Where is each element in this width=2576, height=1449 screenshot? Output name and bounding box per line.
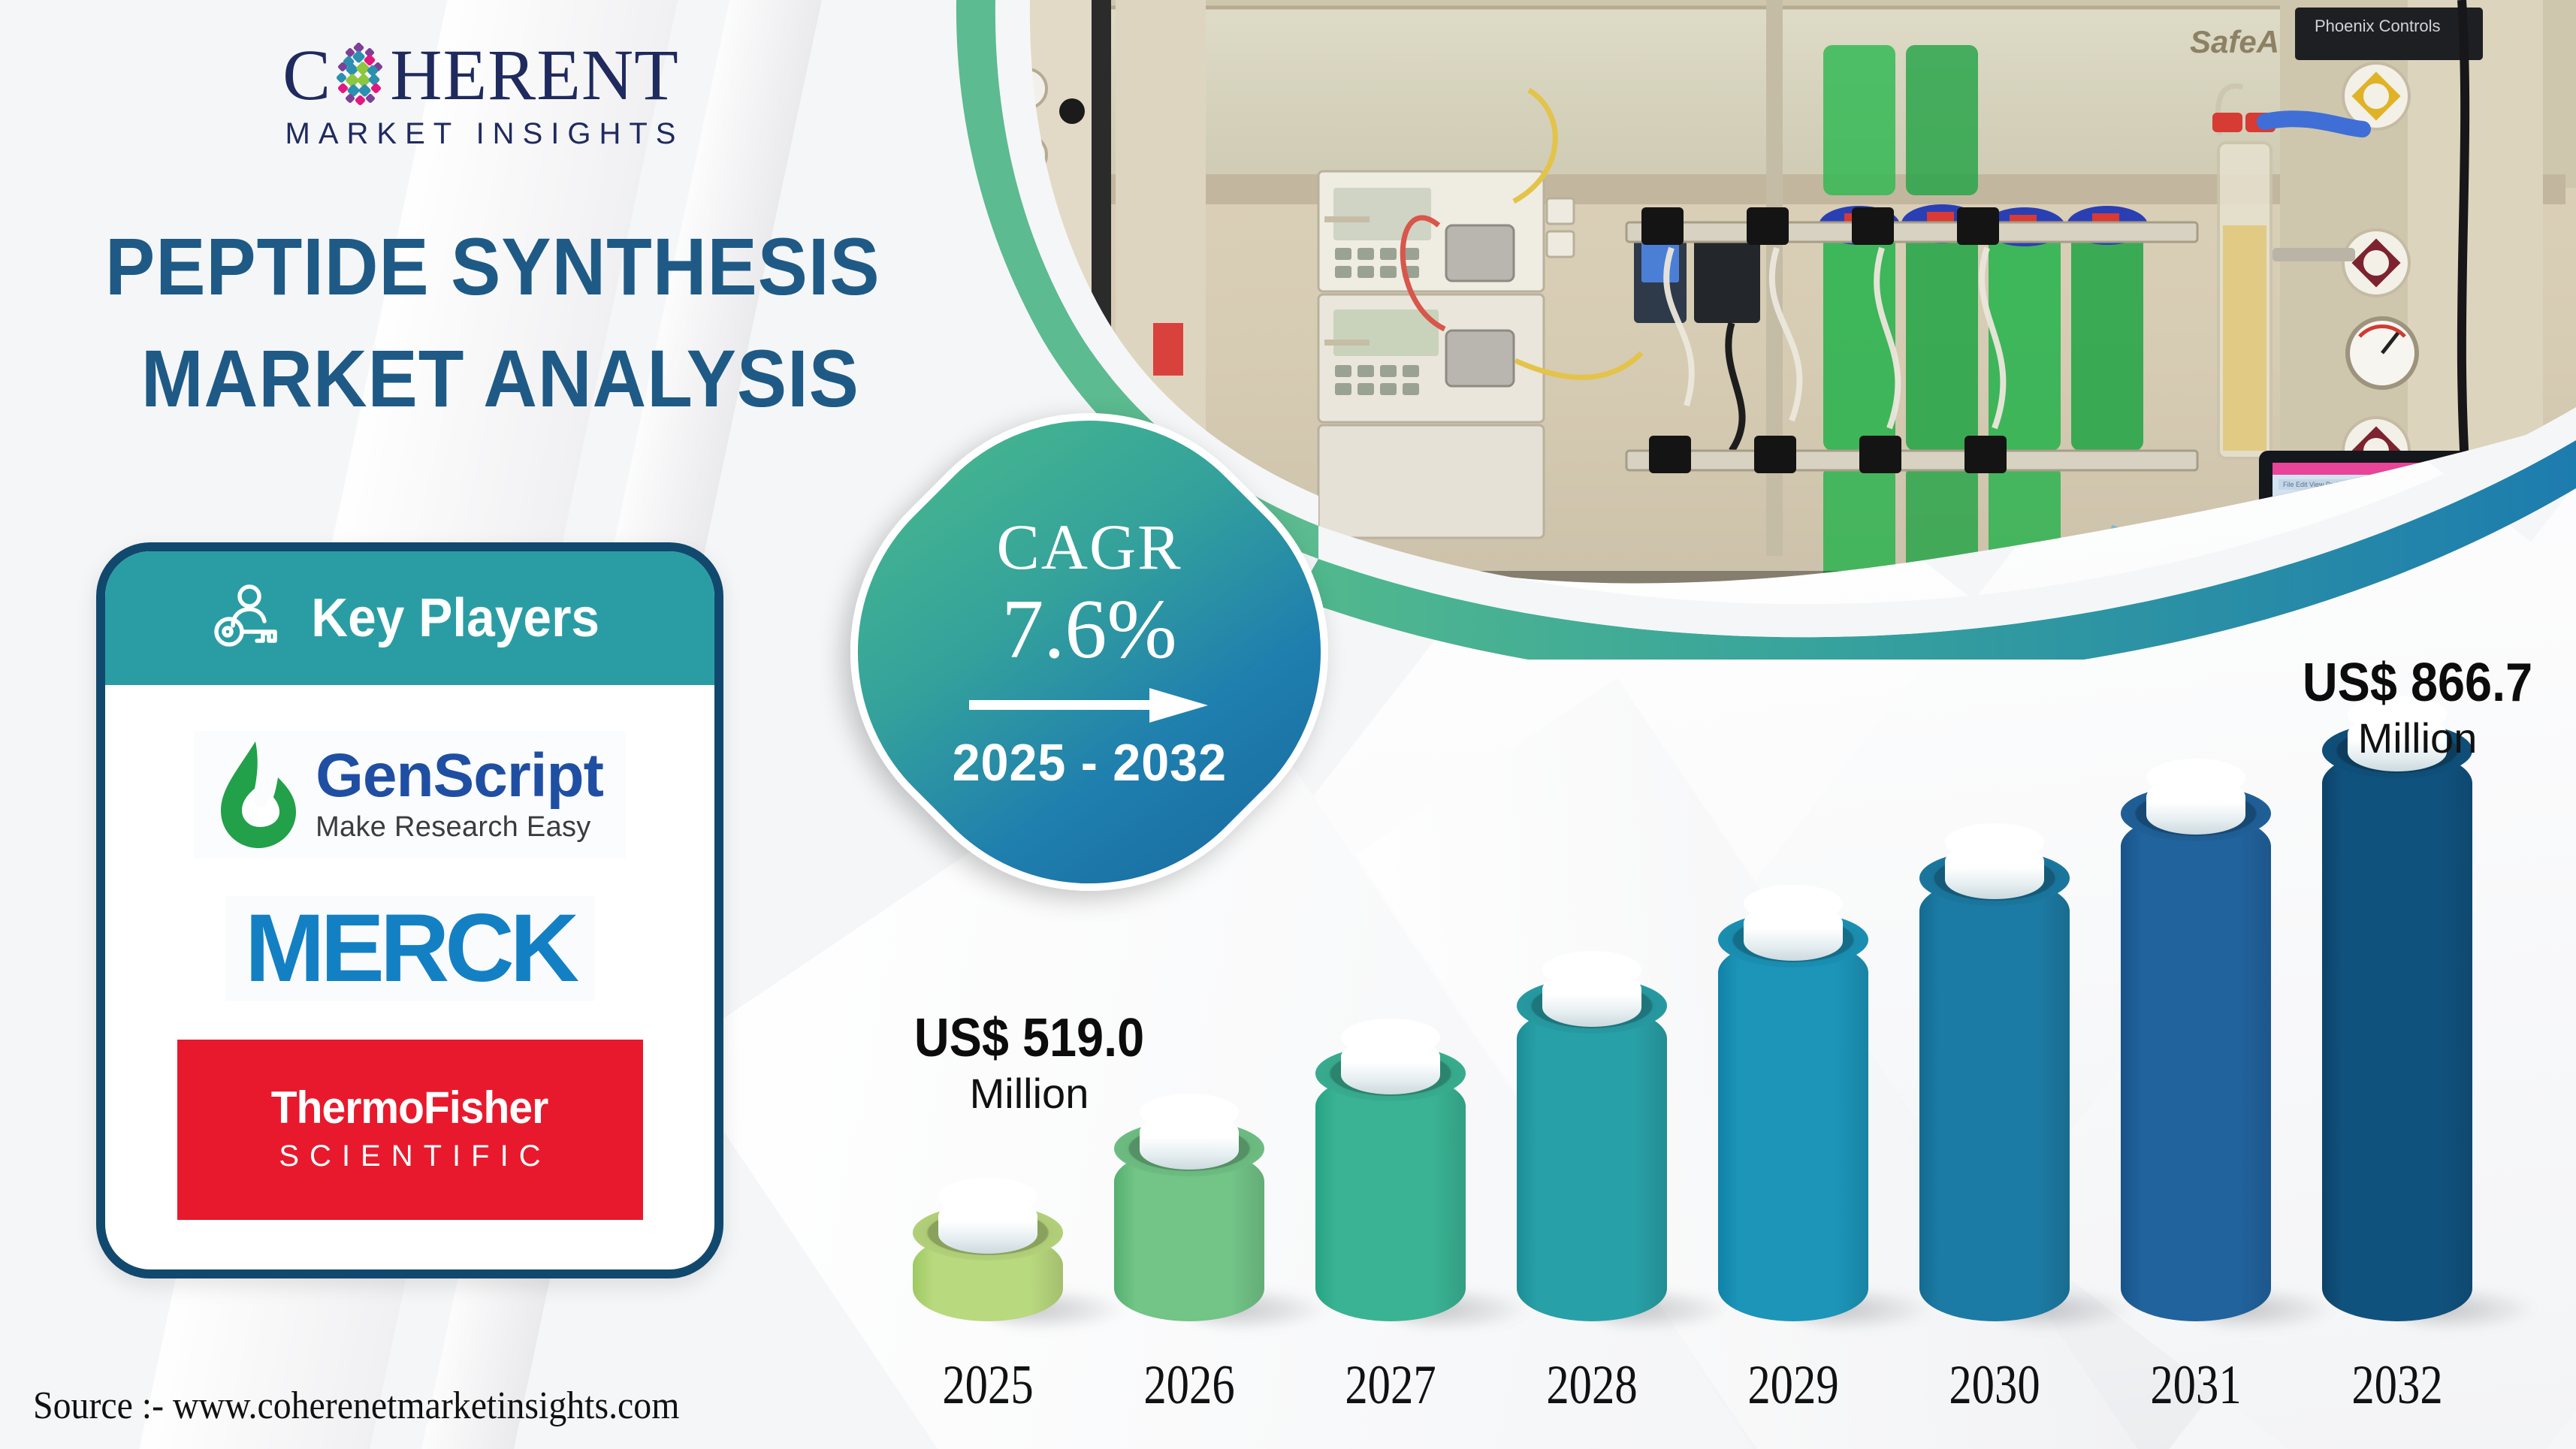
bar-body bbox=[2322, 750, 2472, 1321]
chart-year-label-2031: 2031 bbox=[2134, 1354, 2257, 1417]
cagr-value: 7.6% bbox=[1001, 584, 1176, 676]
bar-cap-top bbox=[1945, 823, 2044, 861]
chart-bar-2027 bbox=[1315, 1073, 1466, 1321]
title-line-2: MARKET ANALYSIS bbox=[105, 322, 755, 434]
bar-body bbox=[1718, 940, 1868, 1321]
bar-cap-top bbox=[1341, 1019, 1440, 1056]
chart-bar-2028 bbox=[1517, 1006, 1667, 1321]
thermofisher-name: ThermoFisher bbox=[271, 1085, 548, 1131]
bar-cap-top bbox=[2146, 759, 2245, 796]
right-arrow-icon bbox=[969, 685, 1209, 729]
logo-merck: MERCK bbox=[225, 896, 594, 1001]
company-logo: C bbox=[240, 39, 721, 151]
bar-body bbox=[1315, 1073, 1466, 1321]
chart-year-label-2032: 2032 bbox=[2336, 1354, 2459, 1417]
logo-tagline: MARKET INSIGHTS bbox=[240, 117, 721, 151]
bar-body bbox=[1919, 878, 2070, 1321]
chart-year-label-2028: 2028 bbox=[1530, 1354, 1653, 1417]
key-players-header: Key Players bbox=[105, 551, 714, 685]
bar-cap-top bbox=[1744, 885, 1843, 922]
chart-bar-2029 bbox=[1718, 940, 1868, 1321]
page-title: PEPTIDE SYNTHESIS MARKET ANALYSIS bbox=[105, 210, 811, 434]
callout-end-value: US$ 866.7 Million bbox=[2267, 655, 2568, 761]
globe-icon bbox=[333, 42, 388, 108]
source-text: Source :- www.coherenetmarketinsights.co… bbox=[33, 1384, 679, 1428]
logo-text-pre: C bbox=[282, 39, 331, 111]
chart-bar-2032 bbox=[2322, 750, 2472, 1321]
cagr-period: 2025 - 2032 bbox=[952, 732, 1226, 792]
thermofisher-subtitle: SCIENTIFIC bbox=[268, 1140, 551, 1173]
key-players-card: Key Players GenScript Make Research Easy bbox=[96, 542, 723, 1278]
chart-bar-2026 bbox=[1114, 1149, 1264, 1321]
bar-body bbox=[2121, 814, 2271, 1321]
bar-cap-top bbox=[938, 1178, 1037, 1215]
key-players-title: Key Players bbox=[312, 587, 600, 649]
callout-start-value: US$ 519.0 Million bbox=[886, 1010, 1172, 1116]
logo-thermofisher: ThermoFisher SCIENTIFIC bbox=[177, 1040, 643, 1220]
logo-text-post: HERENT bbox=[390, 39, 679, 111]
start-value: US$ 519.0 bbox=[901, 1010, 1158, 1067]
genscript-flame-icon bbox=[216, 738, 305, 851]
chart-year-label-2027: 2027 bbox=[1329, 1354, 1452, 1417]
chart-year-label-2029: 2029 bbox=[1732, 1354, 1855, 1417]
person-key-icon bbox=[210, 582, 282, 654]
start-unit: Million bbox=[886, 1070, 1172, 1117]
genscript-name: GenScript bbox=[316, 745, 603, 807]
chart-year-label-2030: 2030 bbox=[1933, 1354, 2056, 1417]
bar-body bbox=[1517, 1006, 1667, 1321]
svg-text:Phoenix Controls: Phoenix Controls bbox=[2315, 17, 2441, 35]
chart-year-label-2026: 2026 bbox=[1128, 1354, 1251, 1417]
chart-year-label-2025: 2025 bbox=[926, 1354, 1049, 1417]
logo-genscript: GenScript Make Research Easy bbox=[194, 731, 626, 859]
cagr-label: CAGR bbox=[997, 512, 1182, 583]
logo-wordmark: C bbox=[240, 39, 721, 111]
title-line-1: PEPTIDE SYNTHESIS bbox=[105, 210, 755, 322]
end-value: US$ 866.7 bbox=[2282, 655, 2553, 712]
chart-bar-2031 bbox=[2121, 814, 2271, 1321]
chart-x-axis-labels: 20252026202720282029203020312032 bbox=[913, 1354, 2535, 1417]
merck-name: MERCK bbox=[245, 895, 575, 1002]
genscript-tagline: Make Research Easy bbox=[316, 811, 591, 844]
chart-bar-2025 bbox=[913, 1233, 1063, 1321]
svg-text:File Edit View Project Operate: File Edit View Project Operate Tools Win… bbox=[2283, 481, 2433, 488]
chart-bar-2030 bbox=[1919, 878, 2070, 1321]
end-unit: Million bbox=[2267, 715, 2568, 762]
bar-cap-top bbox=[1542, 951, 1641, 989]
